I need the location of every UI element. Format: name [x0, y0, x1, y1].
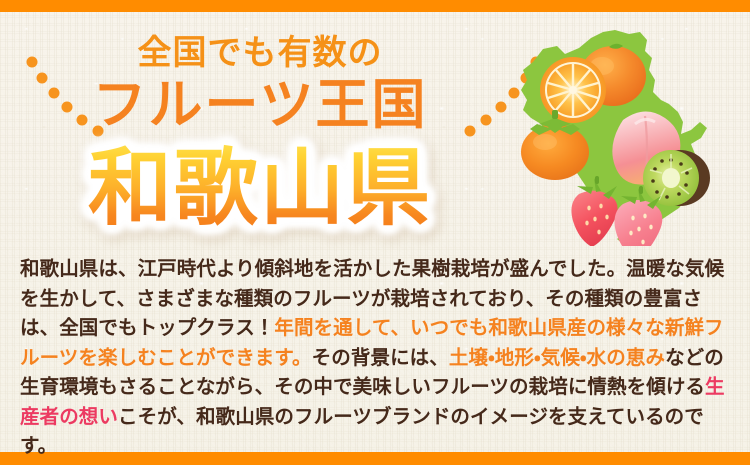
headline-title-prefecture: 和歌山県	[0, 140, 520, 236]
fruit-kingdom-banner: 全国でも有数の フルーツ王国 和歌山県	[0, 0, 750, 465]
copy-run-3: 土壌・地形・気候・水の恵み	[449, 347, 665, 369]
copy-run-6: こそが、和歌山県のフルーツブランドのイメージを支えているのです。	[20, 406, 704, 458]
copy-run-2: その背景には、	[312, 347, 449, 369]
orange-slice-icon	[540, 57, 606, 123]
headline-block: 全国でも有数の フルーツ王国 和歌山県	[0, 12, 520, 237]
top-accent-bar	[0, 0, 750, 12]
body-copy: 和歌山県は、江戸時代より傾斜地を活かした果樹栽培が盛んでした。温暖な気候を生かし…	[20, 255, 734, 462]
headline-title-main: フルーツ王国	[0, 74, 520, 134]
body-paragraph: 和歌山県は、江戸時代より傾斜地を活かした果樹栽培が盛んでした。温暖な気候を生かし…	[20, 255, 734, 462]
kiwi-icon	[643, 150, 710, 206]
headline-kicker: 全国でも有数の	[0, 34, 520, 72]
wakayama-map-illustration	[495, 18, 745, 246]
